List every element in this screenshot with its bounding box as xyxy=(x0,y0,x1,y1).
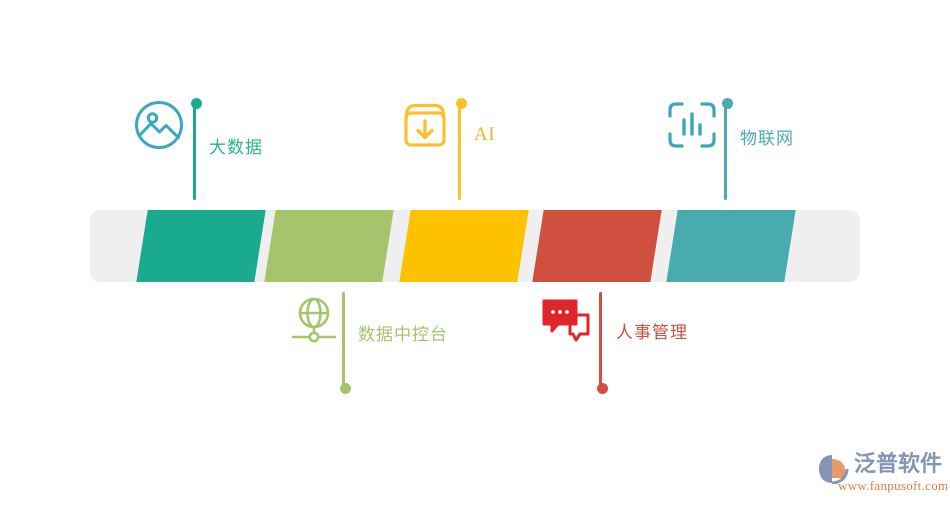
ribbon-segment-light-green xyxy=(264,210,395,282)
connector-dot-ai xyxy=(456,98,467,109)
top-item-label-ai: AI xyxy=(474,124,495,146)
globe-network-icon xyxy=(291,295,337,350)
connector-stem-data-console xyxy=(342,292,345,388)
top-item-label-iot: 物联网 xyxy=(740,124,794,149)
watermark: 泛普软件 www.fanpusoft.com xyxy=(818,450,946,500)
connector-dot-hr-management xyxy=(597,383,608,394)
ribbon-segment-teal-green xyxy=(136,210,267,282)
ribbon-segment-red xyxy=(532,210,663,282)
bottom-item-label-hr-management: 人事管理 xyxy=(616,318,688,343)
image-photo-icon xyxy=(133,99,185,156)
bar-chart-frame-icon xyxy=(667,101,717,154)
connector-dot-iot xyxy=(722,98,733,109)
watermark-url: www.fanpusoft.com xyxy=(838,478,948,494)
ribbon-segment-teal-blue xyxy=(666,210,797,282)
connector-stem-iot xyxy=(724,104,727,200)
connector-stem-hr-management xyxy=(599,292,602,388)
connector-dot-data-console xyxy=(340,383,351,394)
top-item-label-big-data: 大数据 xyxy=(209,133,263,158)
ribbon-segment-yellow xyxy=(399,210,530,282)
segmented-ribbon-bar xyxy=(90,210,860,282)
connector-stem-big-data xyxy=(193,104,196,200)
archive-download-icon xyxy=(401,100,449,155)
infographic-canvas: 大数据 AI xyxy=(0,0,950,509)
connector-stem-ai xyxy=(458,104,461,200)
bottom-item-label-data-console: 数据中控台 xyxy=(358,320,448,345)
connector-dot-big-data xyxy=(191,98,202,109)
watermark-brand-name: 泛普软件 xyxy=(854,451,942,477)
chat-bubbles-icon xyxy=(540,298,594,351)
